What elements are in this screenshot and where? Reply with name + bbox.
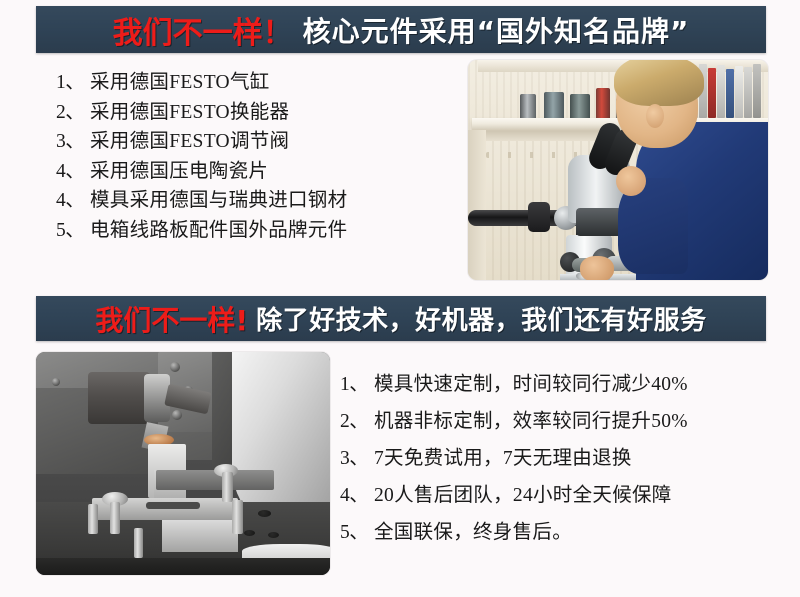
list-item-text: 采用德国压电陶瓷片 <box>90 157 268 187</box>
list-item-number: 4、 <box>340 477 374 514</box>
list-item-number: 4、 <box>56 186 90 216</box>
machine-table-hole <box>244 530 255 536</box>
list-item-text: 7天免费试用，7天无理由退换 <box>374 440 632 477</box>
list-item: 5、 电箱线路板配件国外品牌元件 <box>56 216 456 246</box>
list-item-text: 采用德国FESTO换能器 <box>90 98 289 128</box>
list-item: 1、 采用德国FESTO气缸 <box>56 68 456 98</box>
list-item: 3、 采用德国FESTO调节阀 <box>56 127 456 157</box>
machine-dowel-post <box>88 504 98 534</box>
list-item-number: 1、 <box>340 366 374 403</box>
list-item-text: 全国联保，终身售后。 <box>374 514 572 551</box>
machine-tooling-photo <box>36 352 330 575</box>
bottom-banner: 我们不一样! 除了好技术，好机器，我们还有好服务 <box>36 296 766 341</box>
technician-hand-upper <box>616 166 646 196</box>
machine-dowel-post <box>232 500 243 534</box>
list-item: 4、 采用德国压电陶瓷片 <box>56 157 456 187</box>
list-item-text: 模具快速定制，时间较同行减少40% <box>374 366 688 403</box>
machine-base-strip <box>36 558 330 575</box>
list-item-number: 5、 <box>56 216 90 246</box>
top-banner-title: 核心元件采用“国外知名品牌” <box>303 10 690 50</box>
bottom-service-list: 1、 模具快速定制，时间较同行减少40% 2、 机器非标定制，效率较同行提升50… <box>340 366 795 551</box>
list-item-number: 2、 <box>56 98 90 128</box>
technician-hand-lower <box>580 256 614 280</box>
list-item: 2、 采用德国FESTO换能器 <box>56 98 456 128</box>
list-item: 3、 7天免费试用，7天无理由退换 <box>340 440 795 477</box>
top-banner: 我们不一样！ 核心元件采用“国外知名品牌” <box>36 6 766 53</box>
technician-ear <box>646 104 664 128</box>
microscope-clamp <box>528 202 550 232</box>
machine-dowel-post <box>222 472 233 502</box>
list-item-number: 3、 <box>340 440 374 477</box>
machine-bolt <box>52 378 60 386</box>
list-item: 5、 全国联保，终身售后。 <box>340 514 795 551</box>
top-feature-list: 1、 采用德国FESTO气缸 2、 采用德国FESTO换能器 3、 采用德国FE… <box>56 68 456 245</box>
list-item: 1、 模具快速定制，时间较同行减少40% <box>340 366 795 403</box>
list-item-number: 1、 <box>56 68 90 98</box>
machine-dowel-post <box>134 528 143 558</box>
bottom-banner-highlight: 我们不一样! <box>95 299 248 339</box>
list-item-text: 机器非标定制，效率较同行提升50% <box>374 403 688 440</box>
microscope-inspection-photo <box>468 60 768 280</box>
list-item-text: 20人售后团队，24小时全天候保障 <box>374 477 672 514</box>
list-item-text: 电箱线路板配件国外品牌元件 <box>90 216 347 246</box>
photo-cabinet-side <box>468 130 486 280</box>
list-item-text: 采用德国FESTO气缸 <box>90 68 270 98</box>
list-item-number: 5、 <box>340 514 374 551</box>
machine-cylinder <box>88 372 150 424</box>
list-item-number: 3、 <box>56 127 90 157</box>
list-item-text: 采用德国FESTO调节阀 <box>90 127 289 157</box>
machine-table-hole <box>268 532 279 538</box>
machine-fixture-slot <box>146 502 200 509</box>
list-item-number: 2、 <box>340 403 374 440</box>
list-item-number: 4、 <box>56 157 90 187</box>
machine-bolt <box>172 410 182 420</box>
top-banner-highlight: 我们不一样！ <box>113 8 293 52</box>
promo-page: 我们不一样！ 核心元件采用“国外知名品牌” 1、 采用德国FESTO气缸 2、 … <box>0 0 800 597</box>
machine-base-plate <box>162 518 238 552</box>
list-item: 2、 机器非标定制，效率较同行提升50% <box>340 403 795 440</box>
list-item: 4、 20人售后团队，24小时全天候保障 <box>340 477 795 514</box>
list-item-text: 模具采用德国与瑞典进口钢材 <box>90 186 347 216</box>
machine-table-hole <box>258 510 271 517</box>
technician-hair <box>614 60 704 106</box>
bottom-banner-title: 除了好技术，好机器，我们还有好服务 <box>256 300 707 337</box>
microscope-objective-lens <box>576 208 622 236</box>
machine-dowel-post <box>110 502 120 534</box>
list-item: 4、 模具采用德国与瑞典进口钢材 <box>56 186 456 216</box>
machine-bolt <box>170 362 180 372</box>
